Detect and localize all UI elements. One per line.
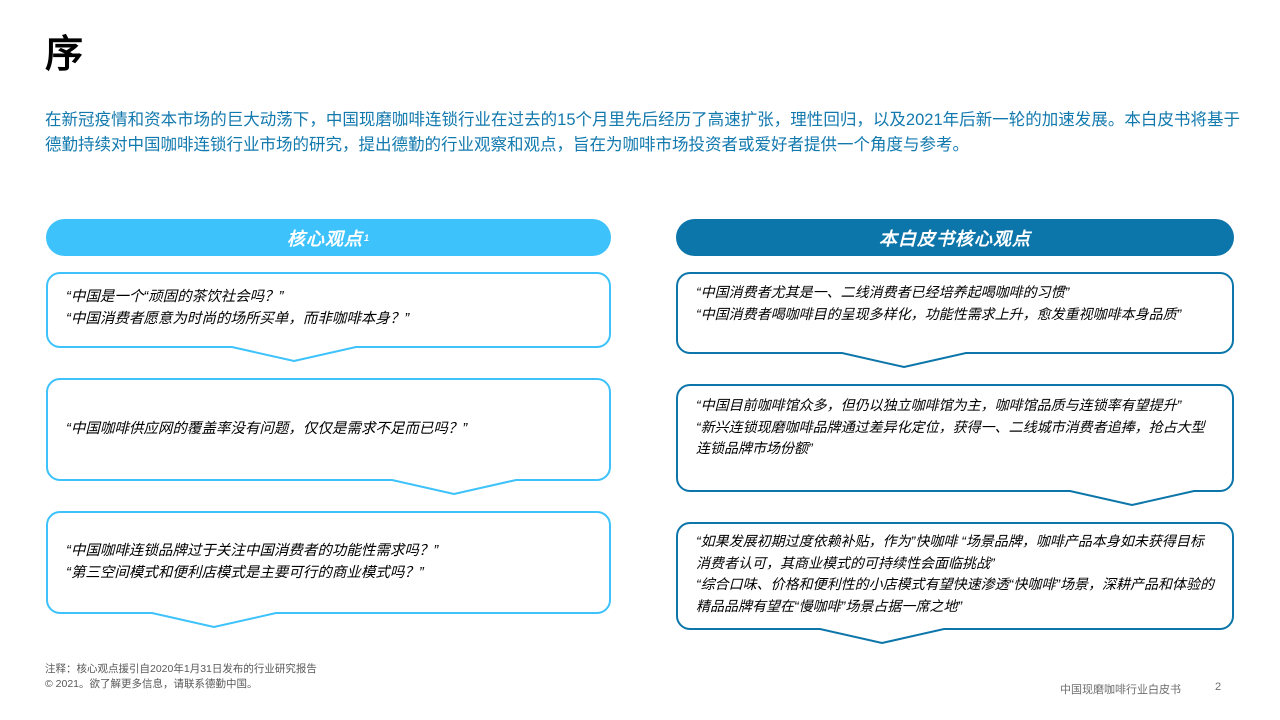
left-bubble-1-text: “中国是一个“顽固的茶饮社会吗？” “中国消费者愿意为时尚的场所买单，而非咖啡本… bbox=[46, 272, 611, 330]
footnote: 注释：核心观点援引自2020年1月31日发布的行业研究报告 © 2021。欲了解… bbox=[45, 662, 317, 692]
banner-core-views-label: 核心观点 bbox=[287, 225, 363, 251]
right-bubble-2: “中国目前咖啡馆众多，但仍以独立咖啡馆为主，咖啡馆品质与连锁率有望提升” “新兴… bbox=[676, 384, 1234, 506]
left-bubble-3: “中国咖啡连锁品牌过于关注中国消费者的功能性需求吗？” “第三空间模式和便利店模… bbox=[46, 511, 611, 628]
banner-whitepaper-views: 本白皮书核心观点 bbox=[676, 219, 1234, 256]
left-bubble-1: “中国是一个“顽固的茶饮社会吗？” “中国消费者愿意为时尚的场所买单，而非咖啡本… bbox=[46, 272, 611, 362]
left-bubble-2: “中国咖啡供应网的覆盖率没有问题，仅仅是需求不足而已吗？” bbox=[46, 378, 611, 495]
banner-whitepaper-views-label: 本白皮书核心观点 bbox=[879, 225, 1031, 251]
right-column: 本白皮书核心观点 “中国消费者尤其是一、二线消费者已经培养起喝咖啡的习惯” “中… bbox=[676, 219, 1234, 644]
left-bubble-3-text: “中国咖啡连锁品牌过于关注中国消费者的功能性需求吗？” “第三空间模式和便利店模… bbox=[46, 511, 611, 584]
intro-paragraph: 在新冠疫情和资本市场的巨大动荡下，中国现磨咖啡连锁行业在过去的15个月里先后经历… bbox=[45, 108, 1240, 158]
footer-page-number: 2 bbox=[1215, 681, 1221, 693]
footer-document-title: 中国现磨咖啡行业白皮书 bbox=[1060, 681, 1181, 697]
left-column: 核心观点1 “中国是一个“顽固的茶饮社会吗？” “中国消费者愿意为时尚的场所买单… bbox=[46, 219, 611, 628]
right-bubble-2-text: “中国目前咖啡馆众多，但仍以独立咖啡馆为主，咖啡馆品质与连锁率有望提升” “新兴… bbox=[676, 384, 1234, 460]
right-bubble-1-text: “中国消费者尤其是一、二线消费者已经培养起喝咖啡的习惯” “中国消费者喝咖啡目的… bbox=[676, 272, 1234, 325]
right-bubble-3-text: “如果发展初期过度依赖补贴，作为”快咖啡 “场景品牌，咖啡产品本身如未获得目标消… bbox=[676, 522, 1234, 617]
banner-core-views: 核心观点1 bbox=[46, 219, 611, 256]
right-bubble-1: “中国消费者尤其是一、二线消费者已经培养起喝咖啡的习惯” “中国消费者喝咖啡目的… bbox=[676, 272, 1234, 368]
page-title: 序 bbox=[45, 36, 83, 74]
right-bubble-3: “如果发展初期过度依赖补贴，作为”快咖啡 “场景品牌，咖啡产品本身如未获得目标消… bbox=[676, 522, 1234, 644]
banner-core-views-superscript: 1 bbox=[364, 233, 370, 243]
left-bubble-2-text: “中国咖啡供应网的覆盖率没有问题，仅仅是需求不足而已吗？” bbox=[46, 378, 611, 440]
